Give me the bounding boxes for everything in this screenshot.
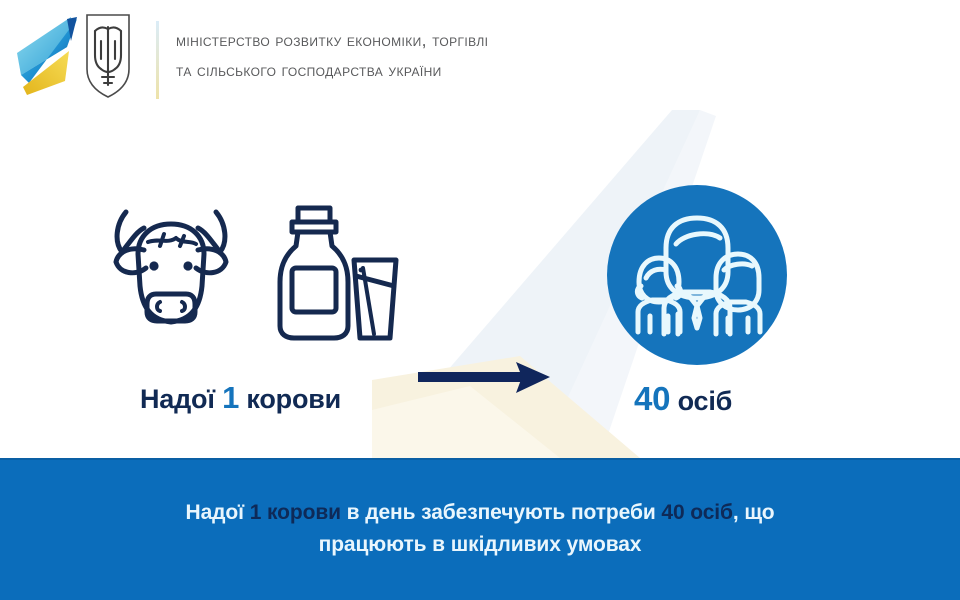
caption-right-number: 40 xyxy=(634,380,670,417)
banner-line2-a: потреби xyxy=(571,501,661,524)
milk-glass-icon xyxy=(354,260,396,338)
banner-line2-highlight: 40 осіб xyxy=(661,501,733,524)
right-arrow-icon xyxy=(418,358,558,398)
infographic-page: Міністерство розвитку економіки, торгівл… xyxy=(0,0,960,600)
caption-left-prefix: Надої xyxy=(140,384,215,414)
logo-block xyxy=(0,5,160,105)
banner-line1-b: в день забезпечують xyxy=(341,501,565,524)
flag-ribbon-icon xyxy=(17,17,77,95)
bottom-banner: Надої 1 корови в день забезпечують потре… xyxy=(0,458,960,600)
milk-bottle-and-glass-icon xyxy=(268,202,400,344)
cow-head-icon xyxy=(96,194,246,344)
ministry-title-line1: Міністерство розвитку економіки, торгівл… xyxy=(176,25,488,55)
header-divider xyxy=(156,21,159,99)
caption-left-suffix: корови xyxy=(246,384,341,414)
group-of-people-icon xyxy=(604,182,790,368)
caption-left: Надої 1 корови xyxy=(140,380,341,416)
banner-top-rule xyxy=(0,458,960,460)
ukrainian-trident-shield-icon xyxy=(87,15,129,97)
banner-line1-a: Надої xyxy=(186,501,250,524)
page-header: Міністерство розвитку економіки, торгівл… xyxy=(0,0,960,110)
caption-left-number: 1 xyxy=(222,380,239,415)
ministry-title-line2: та сільського господарства України xyxy=(176,55,488,85)
ministry-title: Міністерство розвитку економіки, торгівл… xyxy=(176,25,488,85)
banner-text: Надої 1 корови в день забезпечують потре… xyxy=(170,497,790,561)
ukraine-ministry-logo xyxy=(5,7,155,103)
caption-right-suffix: осіб xyxy=(678,386,733,416)
milk-bottle-icon xyxy=(280,208,348,338)
caption-right: 40 осіб xyxy=(634,380,732,418)
banner-line1-highlight: 1 корови xyxy=(250,501,341,524)
banner-line3: шкідливих умовах xyxy=(451,533,642,556)
